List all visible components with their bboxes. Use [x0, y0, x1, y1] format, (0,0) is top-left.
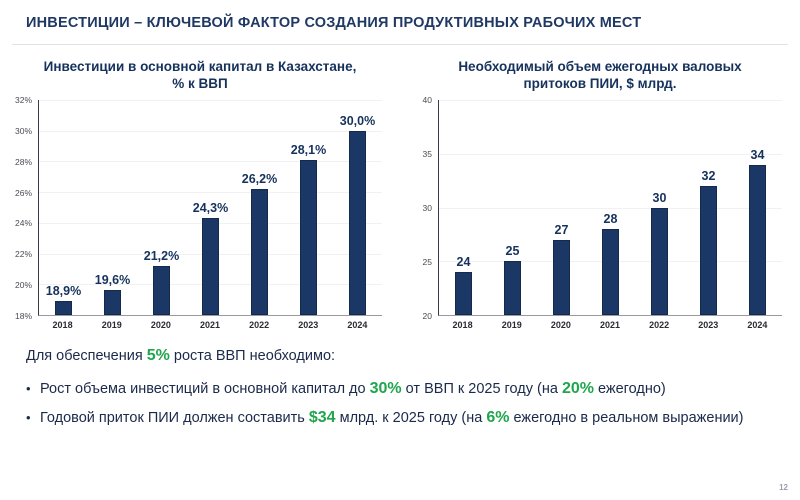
bar-slot-2020[interactable]: 27	[537, 100, 586, 315]
slide-header: ИНВЕСТИЦИИ – КЛЮЧЕВОЙ ФАКТОР СОЗДАНИЯ ПР…	[0, 0, 800, 30]
x-axis-fdi-inflows: 2018201920202021202220232024	[438, 316, 782, 340]
chart-title-fdi-inflows: Необходимый объем ежегодных валовых прит…	[410, 58, 790, 92]
bar-2018[interactable]	[55, 301, 72, 315]
bar-slot-2024[interactable]: 34	[733, 100, 782, 315]
bullet-1-highlight1: 30%	[370, 380, 402, 397]
x-axis-tick-2020: 2020	[136, 320, 185, 330]
x-axis-tick-2024: 2024	[333, 320, 382, 330]
x-axis-tick-2020: 2020	[536, 320, 585, 330]
bar-value-label-2024: 30,0%	[340, 114, 375, 128]
bullet-2-part1: Годовой приток ПИИ должен составить	[40, 410, 309, 426]
bar-value-label-2020: 21,2%	[144, 249, 179, 263]
y-axis-tick-investments-gdp: 28%	[15, 157, 32, 167]
plot-area-fdi-inflows: 24252728303234	[438, 100, 782, 316]
y-axis-tick-investments-gdp: 26%	[15, 188, 32, 198]
bar-2022[interactable]	[251, 189, 268, 315]
x-axis-tick-2023: 2023	[684, 320, 733, 330]
y-axis-tick-fdi-inflows: 35	[423, 149, 432, 159]
y-axis-fdi-inflows: 2025303540	[408, 100, 436, 316]
y-axis-tick-investments-gdp: 24%	[15, 218, 32, 228]
bar-2023[interactable]	[700, 186, 717, 315]
bar-value-label-2021: 28	[604, 212, 618, 226]
bar-slot-2024[interactable]: 30,0%	[333, 100, 382, 315]
bar-2022[interactable]	[651, 208, 668, 316]
x-axis-tick-2022: 2022	[235, 320, 284, 330]
y-axis-tick-investments-gdp: 20%	[15, 280, 32, 290]
bar-2019[interactable]	[104, 290, 121, 315]
list-item: • Годовой приток ПИИ должен составить $3…	[26, 407, 780, 429]
bar-2021[interactable]	[602, 229, 619, 315]
bar-value-label-2018: 24	[457, 255, 471, 269]
bar-value-label-2023: 32	[702, 169, 716, 183]
y-axis-tick-investments-gdp: 32%	[15, 95, 32, 105]
bar-slot-2023[interactable]: 32	[684, 100, 733, 315]
bar-value-label-2019: 19,6%	[95, 273, 130, 287]
bar-slot-2021[interactable]: 24,3%	[186, 100, 235, 315]
chart-panel-fdi-inflows: Необходимый объем ежегодных валовых прит…	[400, 52, 800, 340]
page-number: 12	[779, 483, 788, 492]
plot-investments-gdp: 18%20%22%24%26%28%30%32% 18,9%19,6%21,2%…	[38, 100, 382, 340]
y-axis-tick-fdi-inflows: 30	[423, 203, 432, 213]
bars-fdi-inflows: 24252728303234	[439, 100, 782, 315]
bar-value-label-2022: 26,2%	[242, 172, 277, 186]
bar-slot-2023[interactable]: 28,1%	[284, 100, 333, 315]
conclusion-lead-part1: Для обеспечения	[26, 348, 147, 364]
bar-2024[interactable]	[349, 131, 366, 315]
bar-value-label-2019: 25	[506, 244, 520, 258]
page-title: ИНВЕСТИЦИИ – КЛЮЧЕВОЙ ФАКТОР СОЗДАНИЯ ПР…	[26, 15, 800, 31]
bar-2020[interactable]	[153, 266, 170, 315]
x-axis-tick-2021: 2021	[585, 320, 634, 330]
bullet-2-part2: млрд. к 2025 году (на	[336, 410, 487, 426]
conclusion-lead-highlight: 5%	[147, 347, 170, 364]
conclusion-lead: Для обеспечения 5% роста ВВП необходимо:	[26, 345, 780, 367]
bar-slot-2019[interactable]: 25	[488, 100, 537, 315]
bullet-text-2: Годовой приток ПИИ должен составить $34 …	[40, 407, 780, 429]
bar-slot-2019[interactable]: 19,6%	[88, 100, 137, 315]
bullet-1-highlight2: 20%	[562, 380, 594, 397]
bar-value-label-2024: 34	[751, 148, 765, 162]
x-axis-tick-2022: 2022	[635, 320, 684, 330]
x-axis-tick-2019: 2019	[87, 320, 136, 330]
y-axis-tick-fdi-inflows: 25	[423, 257, 432, 267]
bullet-2-part3: ежегодно в реальном выражении)	[509, 410, 743, 426]
bullet-text-1: Рост объема инвестиций в основной капита…	[40, 378, 780, 400]
x-axis-tick-2018: 2018	[438, 320, 487, 330]
bar-slot-2022[interactable]: 26,2%	[235, 100, 284, 315]
y-axis-investments-gdp: 18%20%22%24%26%28%30%32%	[8, 100, 36, 316]
bar-slot-2018[interactable]: 24	[439, 100, 488, 315]
chart-title-investments-gdp: Инвестиции в основной капитал в Казахста…	[10, 58, 390, 92]
bar-2019[interactable]	[504, 261, 521, 315]
bar-value-label-2018: 18,9%	[46, 284, 81, 298]
header-divider	[12, 44, 788, 45]
bar-slot-2021[interactable]: 28	[586, 100, 635, 315]
y-axis-tick-investments-gdp: 22%	[15, 249, 32, 259]
bar-value-label-2021: 24,3%	[193, 201, 228, 215]
chart-panel-investments-gdp: Инвестиции в основной капитал в Казахста…	[0, 52, 400, 340]
bullet-2-highlight2: 6%	[486, 409, 509, 426]
bar-2021[interactable]	[202, 218, 219, 315]
bullet-2-highlight1: $34	[309, 409, 336, 426]
x-axis-tick-2023: 2023	[284, 320, 333, 330]
y-axis-tick-investments-gdp: 18%	[15, 311, 32, 321]
bar-value-label-2022: 30	[653, 191, 667, 205]
x-axis-tick-2018: 2018	[38, 320, 87, 330]
bullet-marker-icon: •	[26, 378, 40, 400]
bar-2024[interactable]	[749, 165, 766, 316]
x-axis-investments-gdp: 2018201920202021202220232024	[38, 316, 382, 340]
y-axis-tick-investments-gdp: 30%	[15, 126, 32, 136]
bullet-1-part1: Рост объема инвестиций в основной капита…	[40, 381, 370, 397]
bar-2020[interactable]	[553, 240, 570, 315]
bar-value-label-2023: 28,1%	[291, 143, 326, 157]
x-axis-tick-2021: 2021	[185, 320, 234, 330]
y-axis-tick-fdi-inflows: 20	[423, 311, 432, 321]
bar-slot-2018[interactable]: 18,9%	[39, 100, 88, 315]
list-item: • Рост объема инвестиций в основной капи…	[26, 378, 780, 400]
charts-row: Инвестиции в основной капитал в Казахста…	[0, 52, 800, 340]
bar-2018[interactable]	[455, 272, 472, 315]
plot-area-investments-gdp: 18,9%19,6%21,2%24,3%26,2%28,1%30,0%	[38, 100, 382, 316]
bar-value-label-2020: 27	[555, 223, 569, 237]
bullet-1-part2: от ВВП к 2025 году (на	[402, 381, 562, 397]
x-axis-tick-2024: 2024	[733, 320, 782, 330]
bar-slot-2022[interactable]: 30	[635, 100, 684, 315]
bullet-marker-icon: •	[26, 407, 40, 429]
conclusion-lead-part2: роста ВВП необходимо:	[170, 348, 335, 364]
bullet-1-part3: ежегодно)	[594, 381, 666, 397]
conclusions-block: Для обеспечения 5% роста ВВП необходимо:…	[26, 345, 780, 436]
y-axis-tick-fdi-inflows: 40	[423, 95, 432, 105]
bar-2023[interactable]	[300, 160, 317, 315]
plot-fdi-inflows: 2025303540 24252728303234 20182019202020…	[438, 100, 782, 340]
bar-slot-2020[interactable]: 21,2%	[137, 100, 186, 315]
x-axis-tick-2019: 2019	[487, 320, 536, 330]
bars-investments-gdp: 18,9%19,6%21,2%24,3%26,2%28,1%30,0%	[39, 100, 382, 315]
